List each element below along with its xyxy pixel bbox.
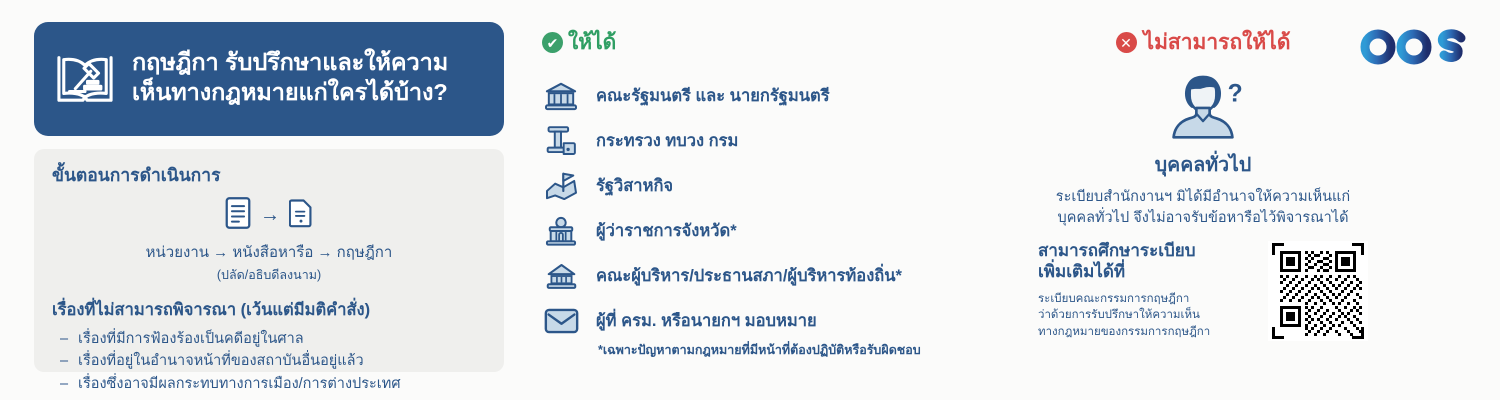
study-heading-line2: เพิ่มเติมได้ที่	[1038, 262, 1258, 282]
list-item-label: รัฐวิสาหกิจ	[596, 173, 673, 199]
x-circle-icon: ✕	[1116, 32, 1137, 53]
list-item: กระทรวง ทบวง กรม	[542, 118, 1042, 163]
deny-body-line2: บุคคลทั่วไป จึงไม่อาจรับข้อหารือไว้พิจาร…	[1038, 208, 1368, 229]
ministry-pillar-icon	[542, 124, 580, 158]
list-item: ผู้ว่าราชการจังหวัด*	[542, 208, 1042, 253]
flow-sublabel: (ปลัด/อธิบดีลงนาม)	[52, 265, 486, 285]
study-subtext-line3: ทางกฎหมายของกรรมการกฤษฎีกา	[1038, 324, 1258, 340]
list-item-label: คณะผู้บริหาร/ประธานสภา/ผู้บริหารท้องถิ่น…	[596, 263, 902, 289]
svg-text:?: ?	[1228, 80, 1243, 107]
list-item-label: เรื่องที่อยู่ในอำนาจหน้าที่ของสถาบันอื่น…	[78, 353, 364, 369]
list-item-label: ผู้ที่ ครม. หรือนายกฯ มอบหมาย	[596, 308, 817, 334]
allow-footnote: *เฉพาะปัญหาตามกฎหมายที่มีหน้าที่ต้องปฏิบ…	[598, 340, 1042, 360]
procedure-flow: → หน่วยงาน → หนังสือหารือ → กฤษฎีกา (ปลั…	[52, 193, 486, 285]
qr-code-icon[interactable]	[1268, 241, 1368, 341]
allow-column: ✔ ให้ได้ คณะรัฐมนตรี และ นายกรัฐมนตรี	[542, 26, 1042, 360]
procedure-card: ขั้นตอนการดำเนินการ →	[34, 149, 504, 372]
exclusions-list: –เรื่องที่มีการฟ้องร้องเป็นคดีอยู่ในศาล …	[52, 328, 486, 395]
list-item: ผู้ที่ ครม. หรือนายกฯ มอบหมาย	[542, 298, 1042, 343]
bullet-dash: –	[60, 373, 68, 395]
list-item-label: คณะรัฐมนตรี และ นายกรัฐมนตรี	[596, 83, 830, 109]
deny-body-line1: ระเบียบสำนักงานฯ มิได้มีอำนาจให้ความเห็น…	[1038, 187, 1368, 208]
flow-arrow-icon: →	[260, 205, 280, 225]
deny-body: ระเบียบสำนักงานฯ มิได้มีอำนาจให้ความเห็น…	[1038, 187, 1368, 228]
document-lines-icon	[225, 196, 251, 235]
procedure-heading: ขั้นตอนการดำเนินการ	[52, 161, 486, 189]
study-block: สามารถศึกษาระเบียบ เพิ่มเติมได้ที่ ระเบี…	[1038, 241, 1368, 341]
flag-map-icon	[542, 169, 580, 203]
deny-heading-label: ไม่สามารถให้ได้	[1144, 26, 1291, 59]
allow-heading-label: ให้ได้	[568, 26, 616, 59]
list-item-label: ผู้ว่าราชการจังหวัด*	[596, 218, 737, 244]
bank-building-icon	[542, 79, 580, 113]
study-heading-line1: สามารถศึกษาระเบียบ	[1038, 241, 1258, 261]
list-item-label: กระทรวง ทบวง กรม	[596, 128, 738, 154]
person-question-icon: ?	[1157, 69, 1249, 143]
study-subtext: ระเบียบคณะกรรมการกฤษฎีกา ว่าด้วยการรับปร…	[1038, 291, 1258, 340]
study-heading: สามารถศึกษาระเบียบ เพิ่มเติมได้ที่	[1038, 241, 1258, 282]
study-subtext-line2: ว่าด้วยการรับปรึกษาให้ความเห็น	[1038, 307, 1258, 323]
ocs-logo: ocs	[1358, 22, 1478, 66]
person-label: บุคคลทั่วไป	[1038, 149, 1368, 180]
list-item: คณะผู้บริหาร/ประธานสภา/ผู้บริหารท้องถิ่น…	[542, 253, 1042, 298]
flow-icon-row: →	[52, 193, 486, 237]
list-item: –เรื่องซึ่งอาจมีผลกระทบทางการเมือง/การต่…	[52, 373, 486, 395]
flow-label: หน่วยงาน → หนังสือหารือ → กฤษฎีกา	[52, 240, 486, 264]
infographic-page: กฤษฎีกา รับปรึกษาและให้ความ เห็นทางกฎหมา…	[0, 0, 1500, 400]
deny-column: ✕ ไม่สามารถให้ได้ ? บุคคลทั่วไป ระเบียบส…	[1038, 26, 1368, 341]
list-item: –เรื่องที่มีการฟ้องร้องเป็นคดีอยู่ในศาล	[52, 328, 486, 350]
check-circle-icon: ✔	[542, 32, 563, 53]
book-gavel-icon	[54, 50, 116, 106]
deny-heading: ✕ ไม่สามารถให้ได้	[1038, 26, 1368, 59]
allow-list: คณะรัฐมนตรี และ นายกรัฐมนตรี กระทรวง ทบว…	[542, 73, 1042, 360]
page-title-line2: เห็นทางกฎหมายแก่ใครได้บ้าง?	[132, 78, 448, 108]
study-text: สามารถศึกษาระเบียบ เพิ่มเติมได้ที่ ระเบี…	[1038, 241, 1258, 340]
list-item-label: เรื่องที่มีการฟ้องร้องเป็นคดีอยู่ในศาล	[78, 331, 304, 347]
list-item: คณะรัฐมนตรี และ นายกรัฐมนตรี	[542, 73, 1042, 118]
allow-heading: ✔ ให้ได้	[542, 26, 1042, 59]
document-memo-icon	[289, 197, 313, 233]
page-title-line1: กฤษฎีกา รับปรึกษาและให้ความ	[132, 48, 448, 78]
local-government-icon	[542, 259, 580, 293]
title-banner: กฤษฎีกา รับปรึกษาและให้ความ เห็นทางกฎหมา…	[34, 22, 504, 136]
list-item: รัฐวิสาหกิจ	[542, 163, 1042, 208]
exclusions-heading: เรื่องที่ไม่สามารถพิจารณา (เว้นแต่มีมติค…	[52, 297, 486, 323]
envelope-icon	[542, 304, 580, 338]
list-item: –เรื่องที่อยู่ในอำนาจหน้าที่ของสถาบันอื่…	[52, 350, 486, 372]
provincial-hall-icon	[542, 214, 580, 248]
bullet-dash: –	[60, 350, 68, 372]
page-title: กฤษฎีกา รับปรึกษาและให้ความ เห็นทางกฎหมา…	[132, 48, 448, 107]
study-subtext-line1: ระเบียบคณะกรรมการกฤษฎีกา	[1038, 291, 1258, 307]
list-item-label: เรื่องซึ่งอาจมีผลกระทบทางการเมือง/การต่า…	[78, 376, 401, 392]
bullet-dash: –	[60, 328, 68, 350]
left-column: กฤษฎีกา รับปรึกษาและให้ความ เห็นทางกฎหมา…	[34, 22, 504, 372]
